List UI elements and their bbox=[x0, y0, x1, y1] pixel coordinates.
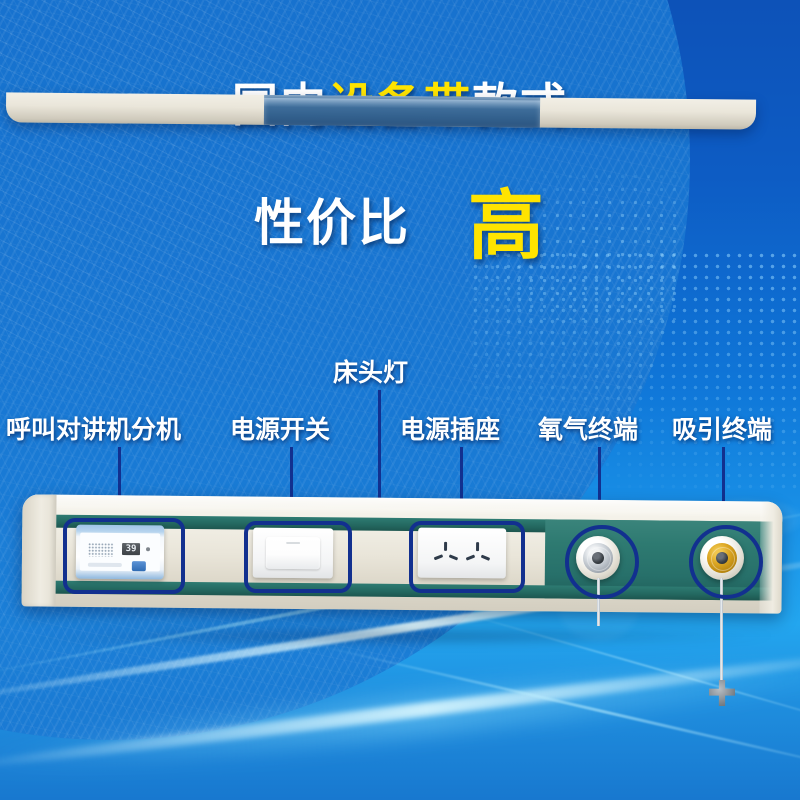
product-banner: 国内设备带款式 性价比高 呼叫对讲机分机 电源开关 床头灯 电源插座 氧气终端 … bbox=[0, 0, 800, 800]
panel-end-cap-right bbox=[759, 501, 782, 613]
callout-label-power-switch: 电源开关 bbox=[230, 415, 330, 445]
callout-label-power-socket: 电源插座 bbox=[400, 415, 500, 445]
callout-circle-oxygen bbox=[565, 525, 639, 599]
panel-drop-shadow bbox=[34, 628, 774, 644]
callout-box-power-socket bbox=[409, 521, 525, 593]
panel-end-cap-left bbox=[21, 494, 56, 606]
bed-lamp-diffuser bbox=[264, 95, 540, 128]
callout-label-bed-lamp: 床头灯 bbox=[333, 358, 408, 388]
headline-line-2: 性价比高 bbox=[0, 164, 800, 274]
callout-circle-suction bbox=[689, 525, 763, 599]
subheadline-emphasis: 高 bbox=[468, 181, 546, 270]
callout-label-intercom: 呼叫对讲机分机 bbox=[6, 415, 181, 445]
callout-label-suction: 吸引终端 bbox=[672, 415, 772, 445]
callout-box-intercom bbox=[63, 518, 185, 594]
panel-highlight bbox=[22, 494, 782, 517]
lamp-gloss bbox=[264, 98, 540, 110]
callout-label-oxygen: 氧气终端 bbox=[538, 415, 638, 445]
subheadline-text: 性价比 bbox=[254, 194, 410, 252]
callout-box-power-switch bbox=[244, 521, 352, 593]
